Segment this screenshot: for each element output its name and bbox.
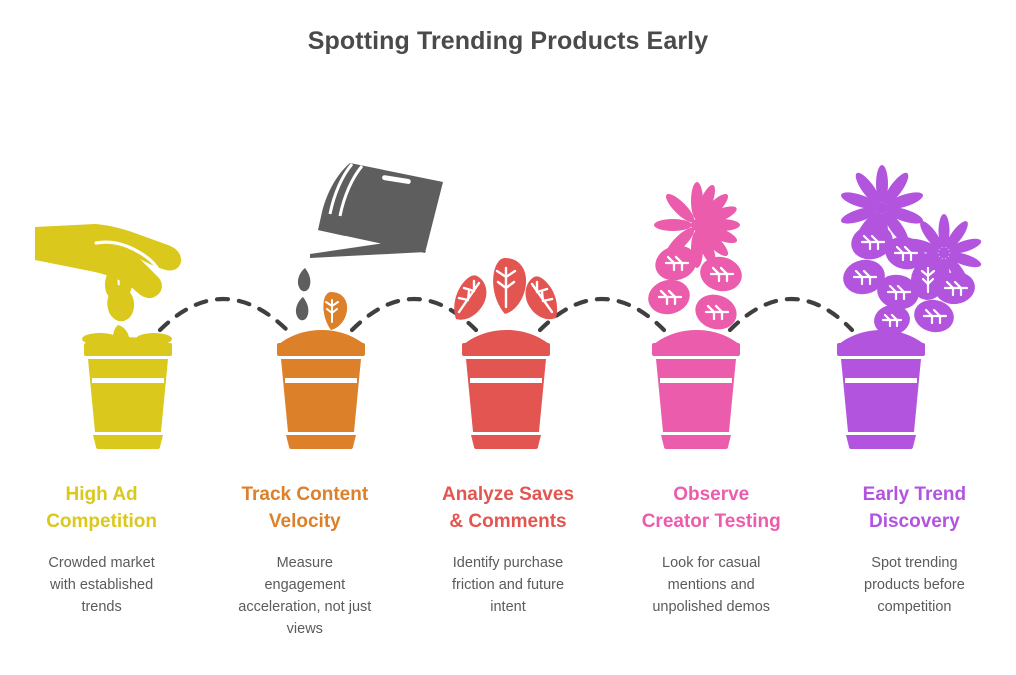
stage-2-soil xyxy=(279,330,364,344)
stage-2-pot xyxy=(277,343,365,449)
stage-5-pot xyxy=(837,343,925,449)
stage-description-3: Identify purchase friction and future in… xyxy=(452,552,564,618)
stage-column-observe-creator-testing: Observe Creator Testing Look for casual … xyxy=(610,482,813,672)
water-droplets xyxy=(296,268,310,320)
stage-description-1: Crowded market with established trends xyxy=(48,552,154,618)
stage-description-5: Spot trending products before competitio… xyxy=(864,552,965,618)
stage-5-graphic xyxy=(837,165,983,449)
hand-planting-seed-icon xyxy=(35,224,181,352)
stage-title-3: Analyze Saves & Comments xyxy=(442,482,574,536)
stage-column-high-ad-competition: High Ad Competition Crowded market with … xyxy=(0,482,203,672)
stage-4-soil xyxy=(654,330,739,344)
stage-3-pot xyxy=(462,343,550,449)
stage-1-pot xyxy=(84,343,172,449)
stage-1-graphic xyxy=(35,224,181,449)
connector-arc-4 xyxy=(730,299,852,330)
stage-column-analyze-saves-comments: Analyze Saves & Comments Identify purcha… xyxy=(406,482,609,672)
stage-description-4: Look for casual mentions and unpolished … xyxy=(652,552,770,618)
stage-description-2: Measure engagement acceleration, not jus… xyxy=(238,552,371,640)
stage-title-2: Track Content Velocity xyxy=(241,482,368,536)
stage-title-5: Early Trend Discovery xyxy=(863,482,967,536)
three-leaves-icon xyxy=(454,258,557,320)
watering-can-icon xyxy=(310,163,443,258)
stage-title-4: Observe Creator Testing xyxy=(642,482,781,536)
stage-title-1: High Ad Competition xyxy=(46,482,157,536)
stage-5-soil xyxy=(839,330,924,344)
connector-arc-1 xyxy=(160,299,287,330)
stage-4-graphic xyxy=(645,182,746,449)
leaf-cluster-pink xyxy=(645,240,746,334)
stage-3-graphic xyxy=(454,258,557,449)
stage-text-columns: High Ad Competition Crowded market with … xyxy=(0,482,1016,672)
infographic-root: Spotting Trending Products Early xyxy=(0,0,1016,675)
stage-4-pot xyxy=(652,343,740,449)
connector-arc-3 xyxy=(540,299,664,330)
sprout-leaf xyxy=(323,292,347,330)
full-bloom-plant-icon xyxy=(839,165,983,338)
stage-column-track-content-velocity: Track Content Velocity Measure engagemen… xyxy=(203,482,406,672)
flowering-plant-icon xyxy=(645,182,746,335)
stage-column-early-trend-discovery: Early Trend Discovery Spot trending prod… xyxy=(813,482,1016,672)
stage-3-soil xyxy=(464,330,549,344)
stage-2-graphic xyxy=(277,163,443,449)
growth-stages-illustration xyxy=(0,0,1016,470)
